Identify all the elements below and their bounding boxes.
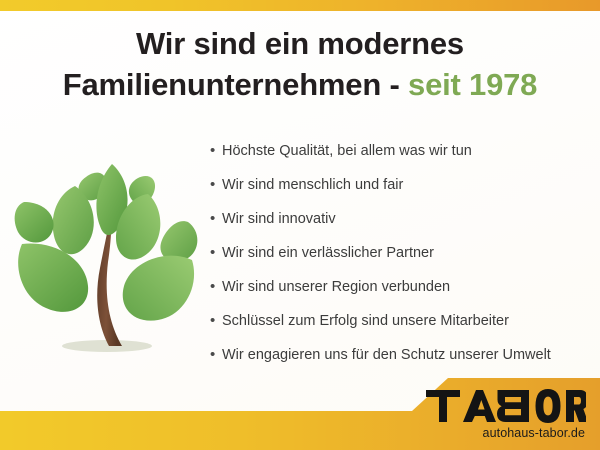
list-item: • Höchste Qualität, bei allem was wir tu… xyxy=(210,140,600,174)
footer-band: autohaus-tabor.de xyxy=(0,360,600,450)
headline-line-2: Familienunternehmen - seit 1978 xyxy=(0,65,600,106)
list-item-label: Wir sind ein verlässlicher Partner xyxy=(222,242,434,264)
slide-canvas: Wir sind ein modernes Familienunternehme… xyxy=(0,0,600,450)
tree-illustration xyxy=(12,150,202,375)
bullet-icon: • xyxy=(210,310,222,332)
benefits-list: • Höchste Qualität, bei allem was wir tu… xyxy=(210,140,600,378)
leaf xyxy=(18,243,88,311)
top-accent-bar xyxy=(0,0,600,11)
list-item: • Schlüssel zum Erfolg sind unsere Mitar… xyxy=(210,310,600,344)
list-item-label: Höchste Qualität, bei allem was wir tun xyxy=(222,140,472,162)
list-item: • Wir sind menschlich und fair xyxy=(210,174,600,208)
bullet-icon: • xyxy=(210,276,222,298)
list-item-label: Schlüssel zum Erfolg sind unsere Mitarbe… xyxy=(222,310,509,332)
headline-line-2-main: Familienunternehmen - xyxy=(63,67,408,102)
brand-url[interactable]: autohaus-tabor.de xyxy=(426,426,586,440)
brand-logo[interactable]: autohaus-tabor.de xyxy=(426,388,586,440)
bullet-icon: • xyxy=(210,140,222,162)
tree-icon xyxy=(12,150,202,375)
list-item: • Wir sind unserer Region verbunden xyxy=(210,276,600,310)
headline-line-1: Wir sind ein modernes xyxy=(0,24,600,65)
list-item: • Wir sind innovativ xyxy=(210,208,600,242)
list-item-label: Wir sind innovativ xyxy=(222,208,336,230)
bullet-icon: • xyxy=(210,242,222,264)
list-item: • Wir sind ein verlässlicher Partner xyxy=(210,242,600,276)
bullet-icon: • xyxy=(210,208,222,230)
tabor-wordmark-icon xyxy=(426,388,586,424)
leaf xyxy=(160,221,197,261)
leaf xyxy=(123,256,194,321)
bullet-icon: • xyxy=(210,174,222,196)
list-item-label: Wir sind unserer Region verbunden xyxy=(222,276,450,298)
leaf xyxy=(15,202,54,243)
page-title: Wir sind ein modernes Familienunternehme… xyxy=(0,24,600,106)
headline-accent: seit 1978 xyxy=(408,67,537,102)
list-item-label: Wir sind menschlich und fair xyxy=(222,174,403,196)
